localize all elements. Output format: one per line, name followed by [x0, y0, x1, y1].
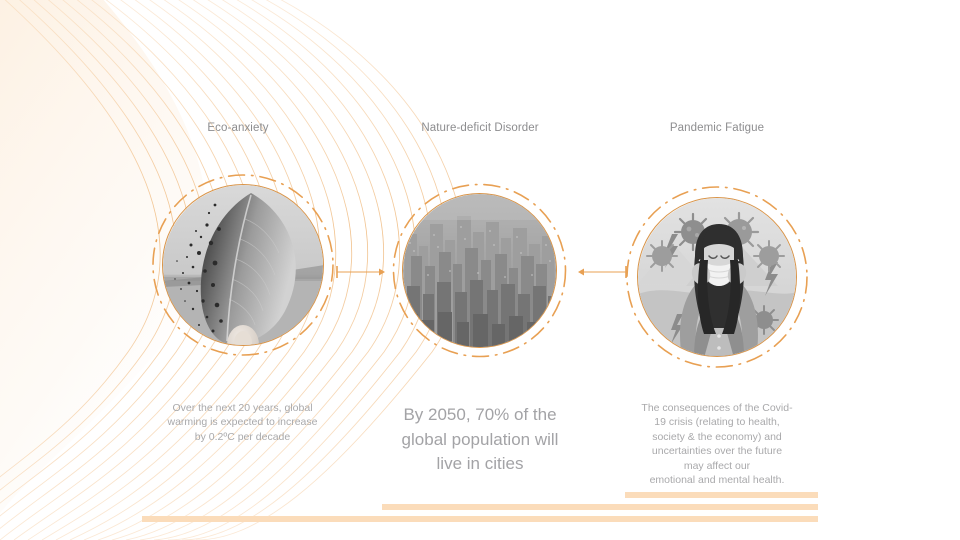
node-pandemic-fatigue[interactable] [622, 182, 812, 372]
caption-line: By 2050, 70% of the [390, 403, 570, 428]
connector-left-to-center [333, 261, 389, 283]
disintegrating-leaf-photo [162, 184, 324, 346]
slide-canvas: Eco-anxiety [0, 0, 960, 540]
dense-cityscape-photo [402, 193, 557, 348]
caption-eco-anxiety: Over the next 20 years, global warming i… [160, 401, 325, 444]
caption-line: uncertainties over the future [632, 444, 802, 458]
column-label-eco-anxiety: Eco-anxiety [158, 122, 318, 134]
caption-line: by 0.2ºC per decade [160, 430, 325, 444]
caption-line: live in cities [390, 452, 570, 477]
accent-bar-bottom [142, 516, 818, 522]
caption-line: 19 crisis (relating to health, [632, 415, 802, 429]
accent-bar-middle [382, 504, 818, 510]
caption-pandemic-fatigue: The consequences of the Covid- 19 crisis… [632, 401, 802, 488]
caption-line: society & the economy) and [632, 430, 802, 444]
column-label-nature-deficit-disorder: Nature-deficit Disorder [400, 122, 560, 134]
node-eco-anxiety[interactable] [148, 170, 338, 360]
caption-line: may affect our [632, 459, 802, 473]
caption-line: The consequences of the Covid- [632, 401, 802, 415]
caption-nature-deficit-disorder: By 2050, 70% of the global population wi… [390, 403, 570, 477]
caption-line: emotional and mental health. [632, 473, 802, 487]
accent-bar-top [625, 492, 818, 498]
stressed-masked-woman-illustration [637, 197, 797, 357]
caption-line: Over the next 20 years, global [160, 401, 325, 415]
column-label-pandemic-fatigue: Pandemic Fatigue [637, 122, 797, 134]
caption-line: global population will [390, 428, 570, 453]
caption-line: warming is expected to increase [160, 415, 325, 429]
node-nature-deficit-disorder[interactable] [389, 180, 570, 361]
